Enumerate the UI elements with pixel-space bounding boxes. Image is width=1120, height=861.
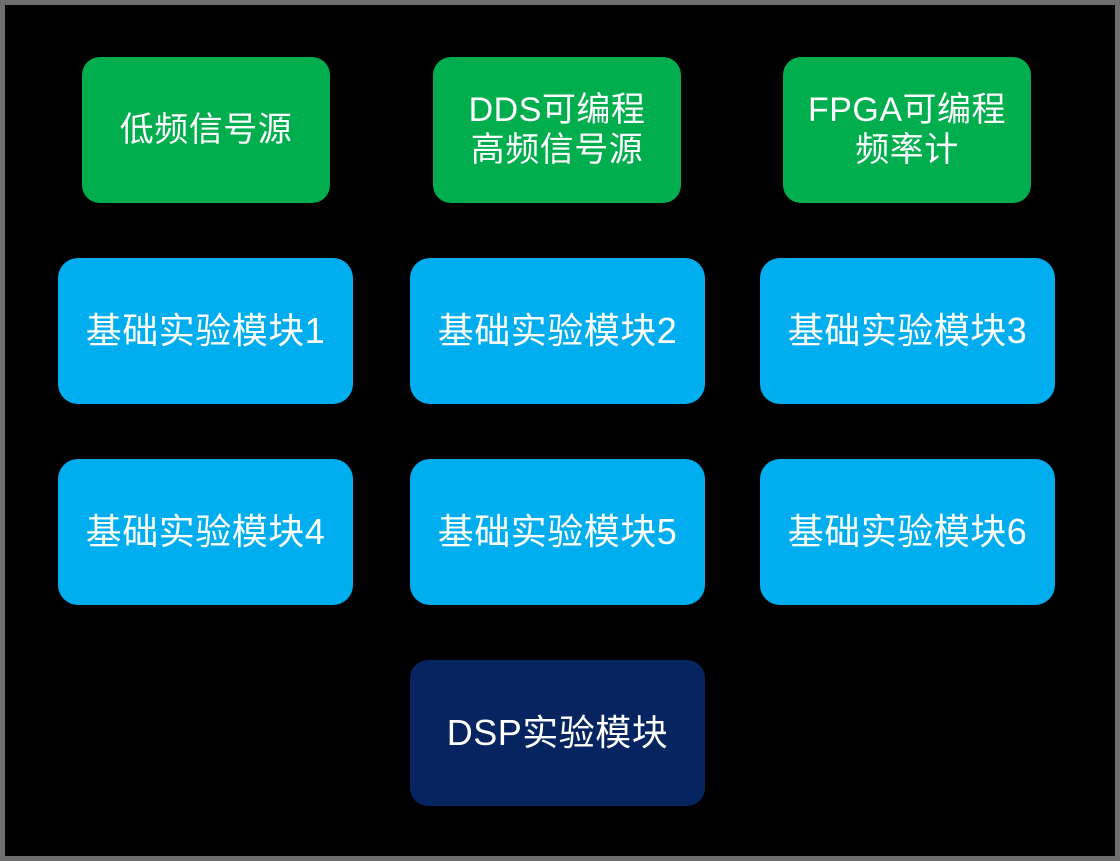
node-basic-module-6[interactable]: 基础实验模块6 [760, 459, 1055, 605]
node-label: 低频信号源 [112, 110, 301, 150]
node-fpga-freq-counter[interactable]: FPGA可编程 频率计 [783, 57, 1031, 203]
node-label: DDS可编程 高频信号源 [461, 90, 654, 170]
node-basic-module-4[interactable]: 基础实验模块4 [58, 459, 353, 605]
node-basic-module-3[interactable]: 基础实验模块3 [760, 258, 1055, 404]
diagram-canvas: 低频信号源 DDS可编程 高频信号源 FPGA可编程 频率计 基础实验模块1 基… [0, 0, 1120, 861]
node-label: FPGA可编程 频率计 [800, 90, 1014, 170]
node-label: 基础实验模块6 [780, 511, 1036, 553]
node-label: 基础实验模块2 [430, 310, 686, 352]
node-basic-module-2[interactable]: 基础实验模块2 [410, 258, 705, 404]
node-basic-module-1[interactable]: 基础实验模块1 [58, 258, 353, 404]
node-label: DSP实验模块 [439, 712, 677, 754]
node-label: 基础实验模块1 [78, 310, 334, 352]
node-label: 基础实验模块4 [78, 511, 334, 553]
node-low-freq-source[interactable]: 低频信号源 [82, 57, 330, 203]
node-label: 基础实验模块3 [780, 310, 1036, 352]
node-basic-module-5[interactable]: 基础实验模块5 [410, 459, 705, 605]
node-label: 基础实验模块5 [430, 511, 686, 553]
node-dsp-module[interactable]: DSP实验模块 [410, 660, 705, 806]
node-dds-hf-source[interactable]: DDS可编程 高频信号源 [433, 57, 681, 203]
